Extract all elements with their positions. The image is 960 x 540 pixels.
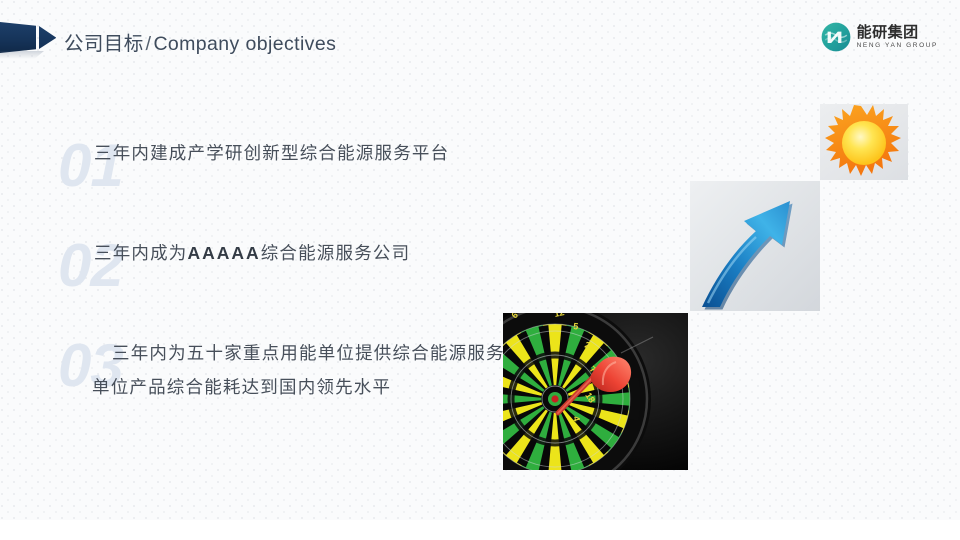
banner-arrow-tip-shape [39,26,56,49]
banner-drop-shadow [0,51,44,59]
objective-text-2: 三年内成为AAAAA综合能源服务公司 [94,236,528,270]
dartboard-photo: 9 12 5 2 7 18 4 6 [503,313,688,470]
objective-item-3: 03 三年内为五十家重点用能单位提供综合能源服务，单位产品综合能耗达到国内领先水… [58,336,528,404]
company-logo: 能研集团 NENG YAN GROUP [821,22,938,52]
dartboard-image: 9 12 5 2 7 18 4 6 [503,313,688,470]
banner-body-shape [0,22,36,53]
page-title-cn: 公司目标 [64,33,144,55]
page-title-en: Company objectives [153,33,336,55]
objective-text-3: 三年内为五十家重点用能单位提供综合能源服务，单位产品综合能耗达到国内领先水平 [92,336,528,404]
objective-text-1: 三年内建成产学研创新型综合能源服务平台 [94,136,528,170]
sun-image [820,104,908,180]
logo-name-en: NENG YAN GROUP [857,43,938,50]
svg-text:5: 5 [573,321,579,331]
page-title-separator: / [144,33,154,55]
slide-header: 公司目标/Company objectives 能研集团 NENG YAN [0,0,960,74]
objective-text-2-before: 三年内成为 [94,243,188,263]
navy-arrow-banner-icon [0,20,56,56]
logo-name-cn: 能研集团 [857,25,938,40]
objective-text-2-rating: AAAAA [188,243,261,263]
logo-wordmark: 能研集团 NENG YAN GROUP [857,25,938,50]
objective-text-2-after: 综合能源服务公司 [261,243,411,263]
growth-arrow-image [690,181,820,311]
sun-photo [820,104,908,180]
bottom-white-band [0,520,960,540]
objective-item-2: 02 三年内成为AAAAA综合能源服务公司 [58,236,528,270]
objective-item-1: 01 三年内建成产学研创新型综合能源服务平台 [58,136,528,170]
growth-arrow-photo [690,181,820,311]
slide-canvas: 公司目标/Company objectives 能研集团 NENG YAN [0,0,960,540]
page-title: 公司目标/Company objectives [64,27,336,56]
neng-yan-circular-mark-icon [821,22,851,52]
